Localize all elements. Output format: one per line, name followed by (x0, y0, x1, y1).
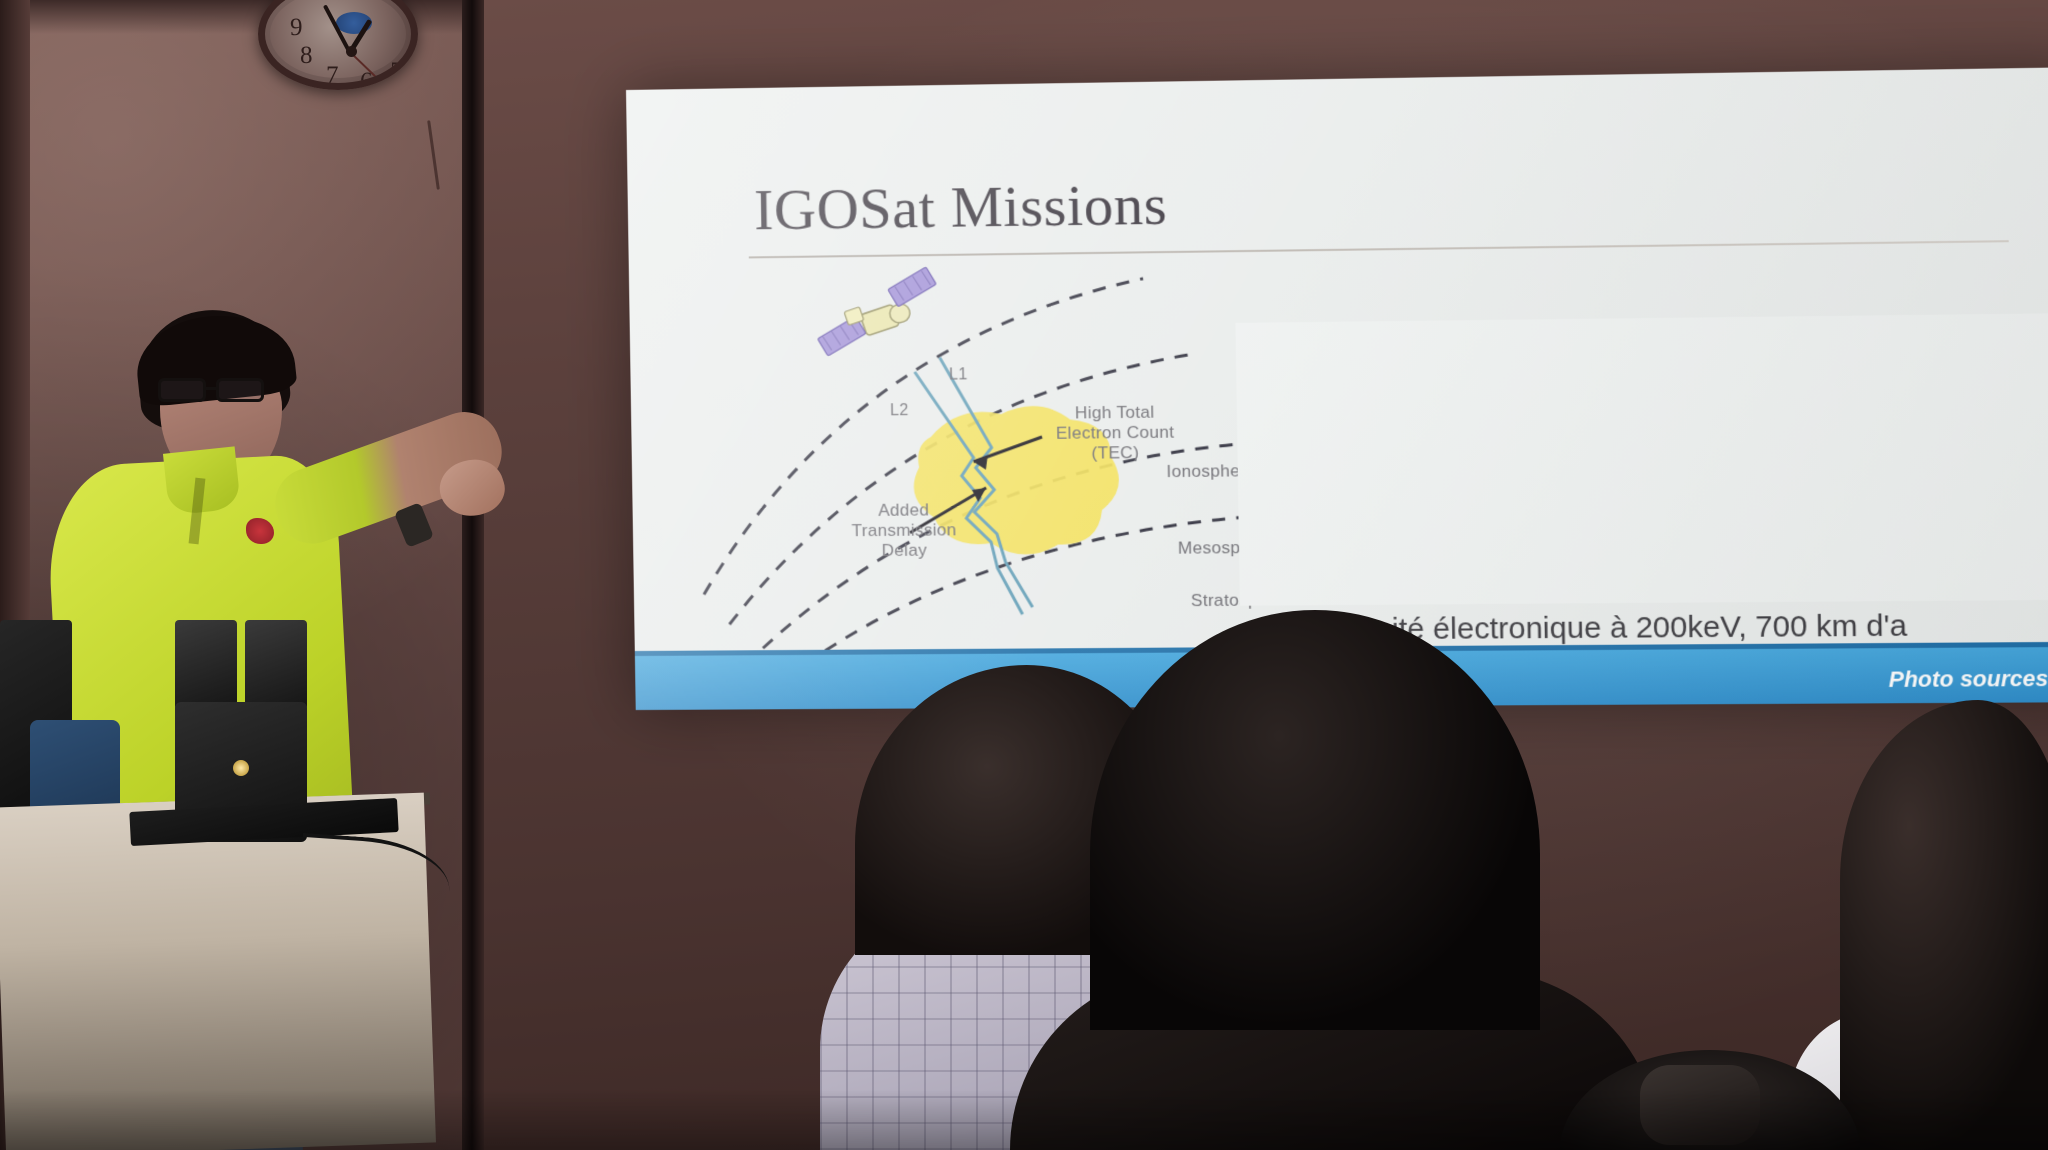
label-transmission-delay: Added Transmission Delay (833, 500, 975, 561)
clock-numeral-7: 7 (326, 62, 339, 90)
label-delay-line3: Delay (834, 540, 976, 561)
audience-member-3-head (1840, 700, 2048, 1150)
clock-center-pin (346, 46, 357, 57)
presenter-glasses (158, 378, 286, 404)
glasses-left-lens (158, 378, 206, 402)
clock-numeral-9: 9 (290, 14, 303, 42)
clock-face: 9 8 7 6 5 4 3 (270, 0, 406, 78)
label-tec-line1: High Total (1028, 402, 1201, 424)
heatmap-background (1235, 312, 2048, 606)
label-delay-line2: Transmission (833, 520, 975, 541)
clock-numeral-8: 8 (300, 42, 313, 70)
slide-title: IGOSat Missions (754, 170, 1168, 243)
speaker-left (175, 620, 237, 710)
label-tec: High Total Electron Count (TEC) (1028, 402, 1202, 464)
electron-density-heatmap (1235, 312, 2048, 606)
presenter-shirt-logo-icon (246, 518, 274, 544)
label-delay-line1: Added (833, 500, 975, 521)
speaker-right (245, 620, 307, 710)
label-l1: L1 (949, 365, 968, 385)
presenter-wristwatch (394, 502, 434, 548)
audience-member-4-device (1640, 1065, 1760, 1145)
title-divider (749, 240, 2009, 258)
speaker-power-led-icon (233, 760, 249, 776)
lecture-room-scene: 9 8 7 6 5 4 3 IGOSat Missions (0, 0, 2048, 1150)
glasses-bridge (206, 387, 218, 390)
label-l2: L2 (890, 401, 909, 421)
photo-sources-note: Photo sources: In (1888, 665, 2048, 693)
glasses-right-lens (216, 378, 264, 402)
satellite-icon (807, 266, 947, 358)
clock-numeral-5: 5 (390, 58, 403, 86)
label-tec-line2: Electron Count (1029, 422, 1202, 444)
